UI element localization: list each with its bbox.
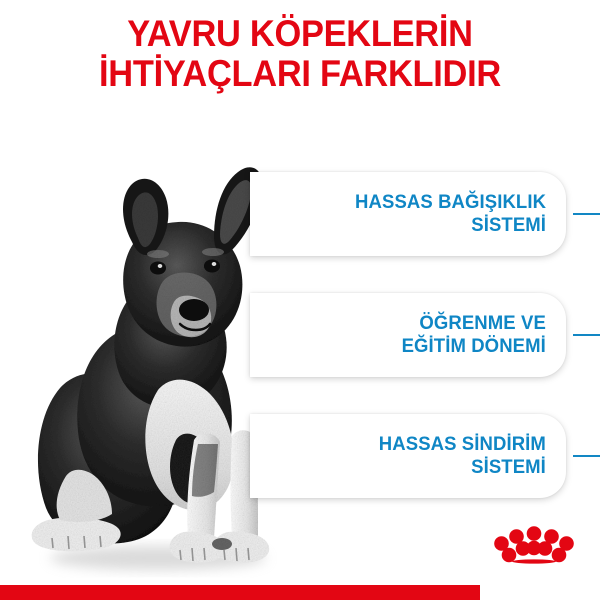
headline-line-1: YAVRU KÖPEKLERİN bbox=[21, 14, 579, 54]
benefit-callout-2[interactable]: ÖĞRENME VE EĞİTİM DÖNEMİ bbox=[250, 293, 566, 377]
benefit-connector-3 bbox=[573, 455, 600, 457]
royal-canin-crown-logo bbox=[492, 521, 576, 569]
headline-line-2: İHTİYAÇLARI FARKLIDIR bbox=[21, 54, 579, 94]
benefit-callout-1[interactable]: HASSAS BAĞIŞIKLIK SİSTEMİ bbox=[250, 172, 566, 256]
page-title: YAVRU KÖPEKLERİN İHTİYAÇLARI FARKLIDIR bbox=[21, 14, 579, 94]
bottom-accent-bar bbox=[0, 585, 480, 600]
benefit-callout-3-label: HASSAS SİNDİRİM SİSTEMİ bbox=[379, 433, 546, 479]
benefit-callout-1-label: HASSAS BAĞIŞIKLIK SİSTEMİ bbox=[355, 191, 546, 237]
benefit-connector-1 bbox=[573, 213, 600, 215]
poster-canvas: YAVRU KÖPEKLERİN İHTİYAÇLARI FARKLIDIR bbox=[0, 0, 600, 600]
benefit-callout-3[interactable]: HASSAS SİNDİRİM SİSTEMİ bbox=[250, 414, 566, 498]
benefit-connector-2 bbox=[573, 334, 600, 336]
benefit-callout-2-label: ÖĞRENME VE EĞİTİM DÖNEMİ bbox=[402, 312, 546, 358]
